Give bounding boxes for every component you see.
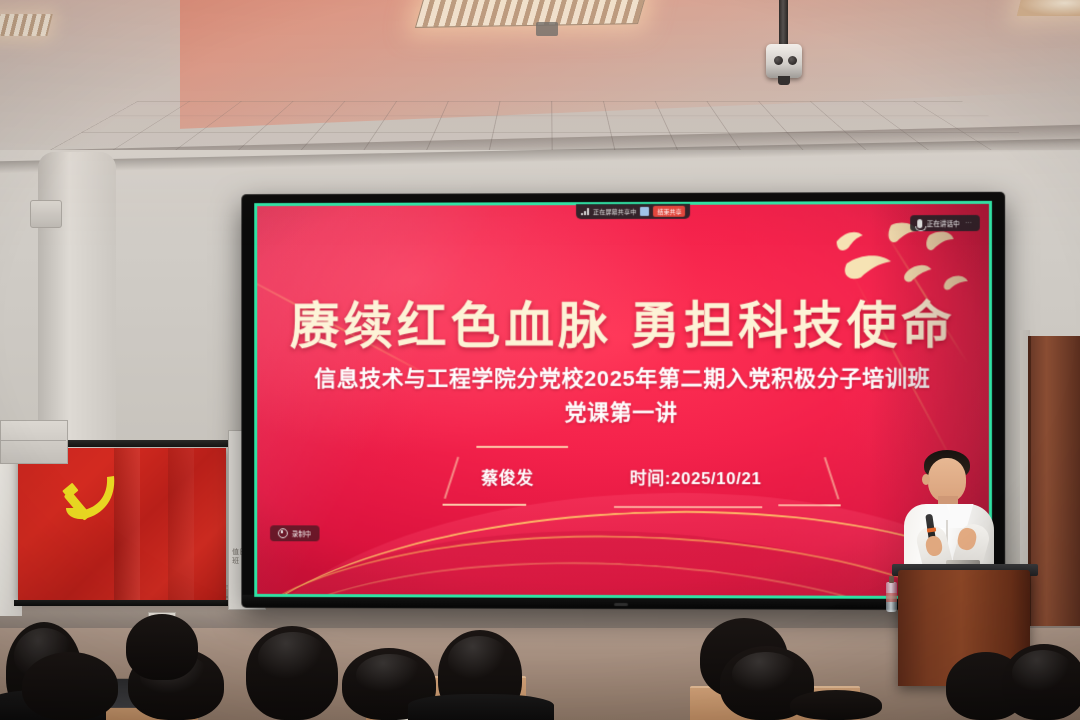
speaking-indicator-pill[interactable]: 正在讲话中 ⋯ xyxy=(910,215,980,231)
cabinet-seam xyxy=(0,440,66,441)
hair-highlight xyxy=(258,632,328,684)
slide-title: 赓续红色血脉 勇担科技使命 xyxy=(256,285,990,358)
communist-party-flag xyxy=(18,448,226,600)
led-display[interactable]: 赓续红色血脉 勇担科技使命 信息技术与工程学院分党校2025年第二期入党积极分子… xyxy=(242,193,1004,609)
hair-highlight xyxy=(732,652,800,696)
wall-cabinet xyxy=(0,420,68,464)
projector-base xyxy=(778,76,790,85)
slide-subtitle: 信息技术与工程学院分党校2025年第二期入党积极分子培训班 党课第一讲 xyxy=(256,362,990,430)
recording-indicator-pill[interactable]: 录制中 xyxy=(270,525,319,541)
ceiling-light-panel xyxy=(415,0,647,28)
hair-highlight xyxy=(448,636,510,684)
ceiling-light-panel-right xyxy=(1017,0,1080,16)
speaker-ear xyxy=(922,474,930,485)
lecture-hall-photo: 值日生 2班 xyxy=(0,0,1080,720)
slide-subtitle-line1: 信息技术与工程学院分党校2025年第二期入党积极分子培训班 xyxy=(256,362,990,396)
microphone-icon xyxy=(917,219,922,228)
slide-meta-row: 蔡俊发 时间:2025/10/21 xyxy=(256,464,990,490)
flag-rail-bottom xyxy=(14,600,230,606)
display-panel: 赓续红色血脉 勇担科技使命 信息技术与工程学院分党校2025年第二期入党积极分子… xyxy=(256,203,990,597)
more-dots-icon[interactable]: ⋯ xyxy=(965,219,973,227)
audience-body xyxy=(408,694,554,720)
recording-label: 录制中 xyxy=(292,528,311,538)
share-status-text: 正在屏幕共享中 xyxy=(593,207,636,216)
signal-bars-icon xyxy=(581,208,589,215)
bottle-label xyxy=(886,593,897,602)
audience-head xyxy=(22,652,118,720)
water-bottle xyxy=(886,582,897,612)
hair-highlight xyxy=(1012,650,1074,696)
wall-ac-unit xyxy=(30,200,62,228)
audience-head xyxy=(126,614,198,680)
slide-subtitle-line2: 党课第一讲 xyxy=(256,396,990,430)
slide-divider-tick xyxy=(476,446,568,448)
speaking-indicator-label: 正在讲话中 xyxy=(927,218,960,228)
slide-divider-tick xyxy=(443,504,527,506)
window-icon[interactable] xyxy=(640,207,649,216)
classroom-door[interactable] xyxy=(1028,336,1080,626)
audience-head xyxy=(790,690,882,720)
ceiling-light-panel-left xyxy=(0,14,53,36)
presentation-slide: 赓续红色血脉 勇担科技使命 信息技术与工程学院分党校2025年第二期入党积极分子… xyxy=(256,203,990,597)
projector-mount-rod xyxy=(779,0,788,46)
stop-share-button[interactable]: 结束共享 xyxy=(653,206,685,217)
screen-share-toolbar[interactable]: 正在屏幕共享中 结束共享 xyxy=(576,204,690,219)
flag-fold xyxy=(168,448,194,600)
hair-highlight xyxy=(356,654,424,696)
record-clock-icon xyxy=(278,528,288,538)
hammer-and-sickle-icon xyxy=(56,470,128,534)
projector-lens-secondary-icon xyxy=(788,56,797,65)
slide-speaker-name: 蔡俊发 xyxy=(481,469,533,488)
ceiling-vent xyxy=(536,22,558,36)
slide-date: 时间:2025/10/21 xyxy=(630,469,762,488)
display-brand-logo xyxy=(614,603,628,606)
projector-lens-icon xyxy=(774,56,783,65)
